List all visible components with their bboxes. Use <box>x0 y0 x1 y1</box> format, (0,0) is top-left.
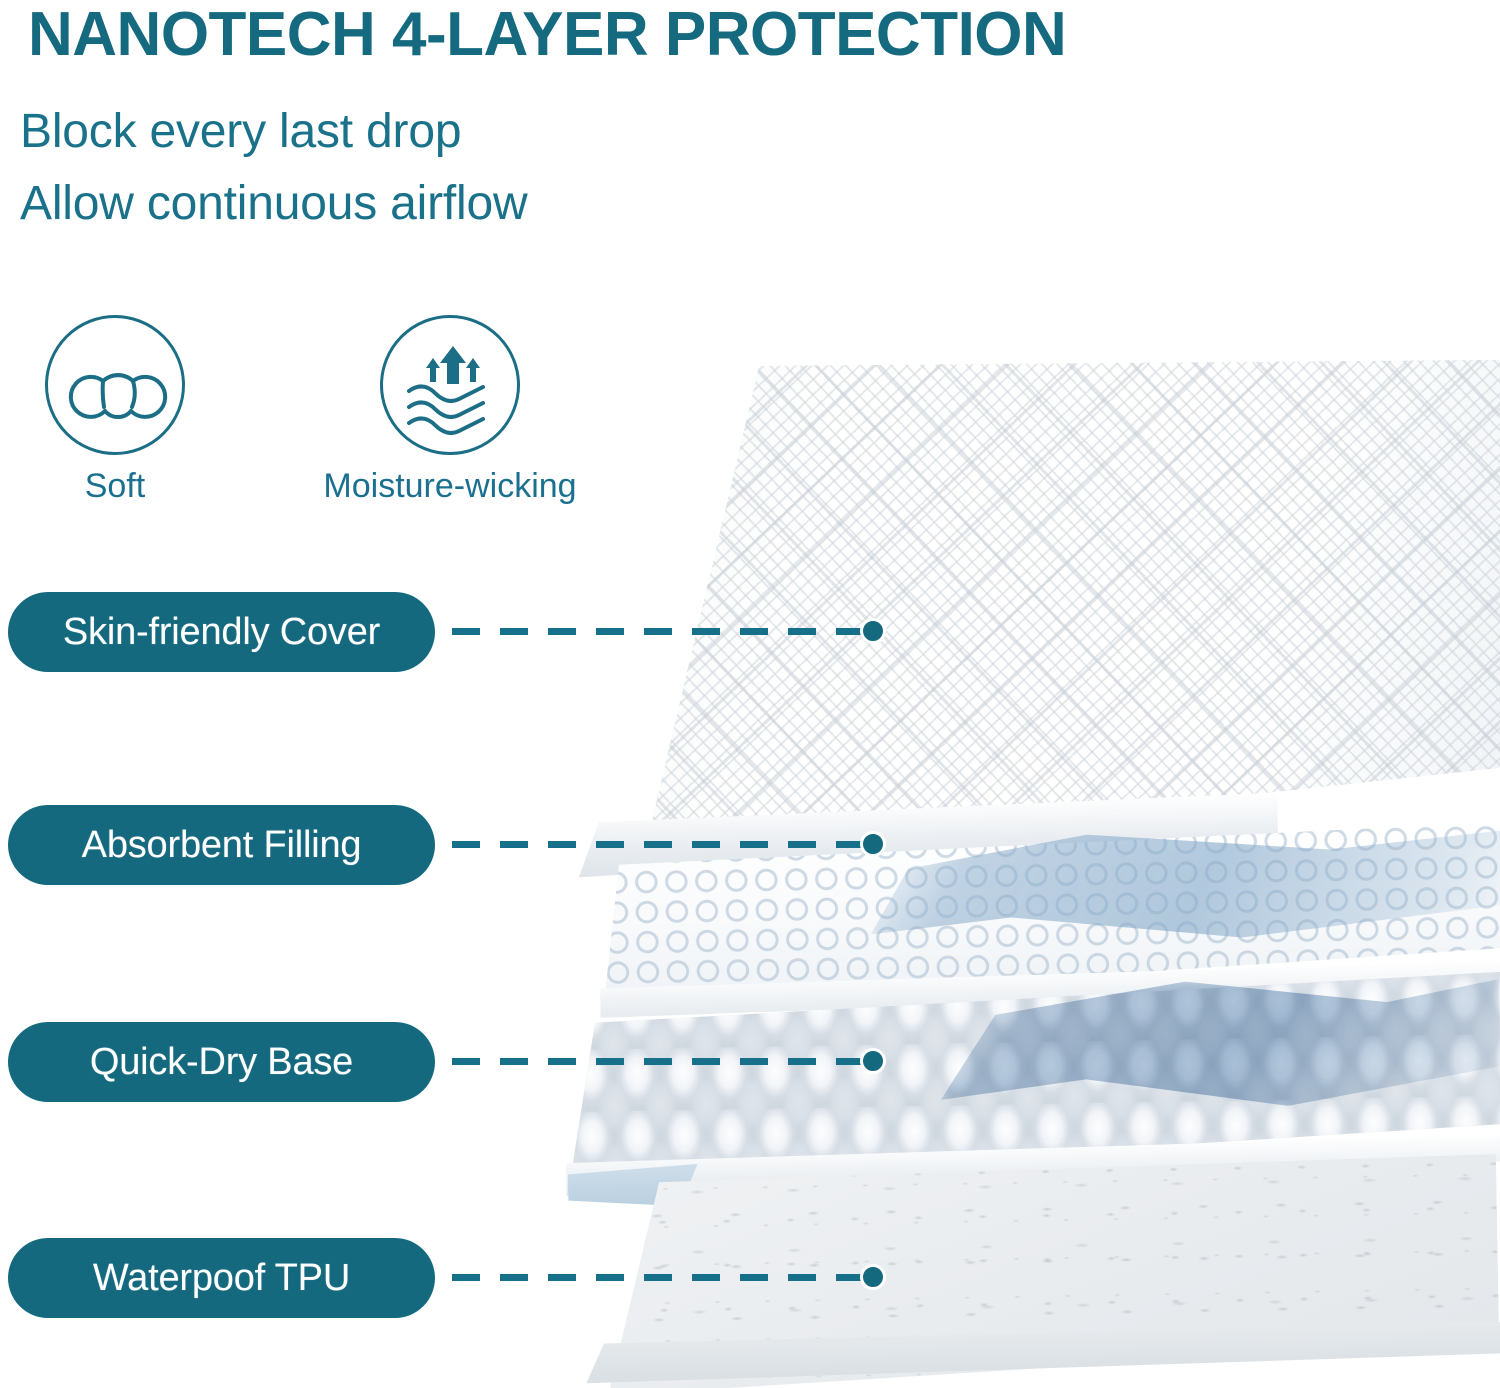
leader-dot <box>860 618 886 644</box>
layer-pill-label: Absorbent Filling <box>82 824 362 867</box>
leader-dot <box>860 1264 886 1290</box>
layer-pill-waterproof-tpu[interactable]: Waterpoof TPU <box>8 1238 435 1318</box>
layer-pill-quick-dry-base[interactable]: Quick-Dry Base <box>8 1022 435 1102</box>
page-title: NANOTECH 4-LAYER PROTECTION <box>28 2 1468 67</box>
layer-pill-label: Waterpoof TPU <box>93 1257 350 1300</box>
moisture-wicking-icon <box>380 315 520 455</box>
feature-soft: Soft <box>45 315 185 515</box>
leader-dot <box>860 831 886 857</box>
subtitle-line-2: Allow continuous airflow <box>20 176 527 231</box>
subtitle-line-1: Block every last drop <box>20 104 461 159</box>
leader-line <box>452 1274 870 1281</box>
layer-pill-label: Skin-friendly Cover <box>63 611 380 654</box>
cloud-icon <box>45 315 185 455</box>
infographic-page: NANOTECH 4-LAYER PROTECTION Block every … <box>0 0 1500 1388</box>
feature-label-moisture-wicking: Moisture-wicking <box>323 467 576 506</box>
layer-pill-label: Quick-Dry Base <box>90 1041 353 1084</box>
feature-moisture-wicking: Moisture-wicking <box>380 315 520 515</box>
layer-pill-absorbent-filling[interactable]: Absorbent Filling <box>8 805 435 885</box>
leader-line <box>452 1058 870 1065</box>
leader-line <box>452 841 870 848</box>
product-layer-illustration <box>540 330 1500 1388</box>
leader-dot <box>860 1048 886 1074</box>
leader-line <box>452 628 870 635</box>
feature-label-soft: Soft <box>85 467 145 506</box>
layer-image-skin-friendly-cover <box>573 345 1500 861</box>
layer-pill-skin-friendly-cover[interactable]: Skin-friendly Cover <box>8 592 435 672</box>
